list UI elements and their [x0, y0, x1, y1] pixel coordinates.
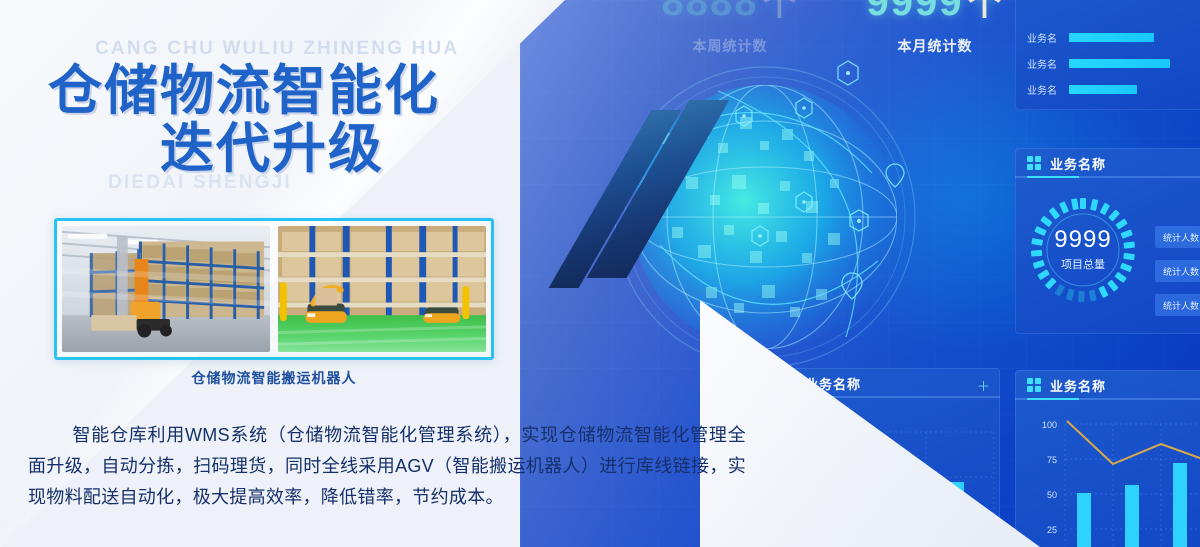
- stat-row[interactable]: 统计人数: [1155, 294, 1200, 316]
- add-icon[interactable]: ＋: [977, 376, 990, 395]
- pinyin-top: CANG CHU WULIU ZHINENG HUA: [95, 38, 459, 60]
- title-line-1: 仓储物流智能化: [48, 62, 468, 120]
- photo-caption: 仓储物流智能搬运机器人: [54, 368, 494, 388]
- svg-text:25: 25: [1047, 525, 1057, 535]
- warehouse-forklift-photo[interactable]: [62, 226, 270, 352]
- hbar-label: 业务名: [1027, 30, 1069, 45]
- panel-header: 业务名称: [1015, 148, 1200, 178]
- hbar-row[interactable]: 业务名: [1015, 82, 1200, 97]
- stat-row[interactable]: 统计人数: [1155, 260, 1200, 282]
- stat-week: 8888个 本周统计数: [640, 0, 820, 56]
- donut-center: 9999 项目总量: [1023, 190, 1143, 310]
- body-text: 智能仓库利用WMS系统（仓储物流智能化管理系统），实现仓储物流智能化管理全面升级…: [28, 425, 746, 507]
- hbar-label: 业务名: [1027, 82, 1069, 97]
- panel-business-statistics[interactable]: 业务统计 业务名 业务名 业务名: [1015, 0, 1200, 110]
- stat-month: 9999个 本月统计数: [845, 0, 1025, 56]
- donut-value: 9999: [1054, 228, 1111, 252]
- stat-month-unit: 个: [967, 0, 1003, 23]
- hbar-label: 业务名: [1027, 56, 1069, 71]
- panel-underline: [1015, 398, 1200, 400]
- stat-month-label: 本月统计数: [845, 36, 1025, 56]
- panel-project-total[interactable]: 业务名称: [1015, 148, 1200, 334]
- hbar-list: 业务名 业务名 业务名: [1015, 30, 1200, 97]
- stat-week-label: 本周统计数: [640, 36, 820, 56]
- stat-week-unit: 个: [762, 0, 798, 23]
- hbar-fill: [1069, 33, 1154, 42]
- stat-row[interactable]: 统计人数: [1155, 226, 1200, 248]
- photo-frame: [54, 218, 494, 360]
- warehouse-agv-photo[interactable]: [278, 226, 486, 352]
- donut-label: 项目总量: [1061, 256, 1105, 272]
- svg-text:100: 100: [1042, 420, 1057, 430]
- panel-combo-chart[interactable]: 业务名称 100 75 5: [1015, 370, 1200, 547]
- hbar-fill: [1069, 85, 1137, 94]
- stat-row-label: 统计人数: [1163, 265, 1199, 278]
- pinyin-bottom: DIEDAI SHENGJI: [108, 172, 292, 194]
- hbar-row[interactable]: 业务名: [1015, 56, 1200, 71]
- combo-chart: 100 75 50 25: [1015, 404, 1200, 547]
- svg-text:75: 75: [1047, 455, 1057, 465]
- panel-title: 业务名称: [1050, 154, 1106, 173]
- title-line-2: 迭代升级: [48, 120, 468, 178]
- svg-text:50: 50: [1047, 490, 1057, 500]
- stat-month-value: 9999: [867, 0, 964, 24]
- grid-icon: [1027, 378, 1041, 392]
- donut-gauge: 9999 项目总量: [1023, 190, 1143, 310]
- panel-header: 业务名称: [1015, 370, 1200, 400]
- panel-title: 业务名称: [1050, 376, 1106, 395]
- stat-row-label: 统计人数: [1163, 299, 1199, 312]
- body-paragraph: 智能仓库利用WMS系统（仓储物流智能化管理系统），实现仓储物流智能化管理全面升级…: [28, 420, 746, 513]
- stat-row-label: 统计人数: [1163, 231, 1199, 244]
- stat-week-value: 8888: [662, 0, 759, 24]
- panel-underline: [1015, 176, 1200, 178]
- grid-icon: [1027, 156, 1041, 170]
- page-title: 仓储物流智能化 迭代升级: [48, 62, 468, 179]
- poster-canvas: 8888个 本周统计数 9999个 本月统计数 业务统计 业务名 业务名 业务名: [0, 0, 1200, 547]
- hbar-fill: [1069, 59, 1170, 68]
- hbar-row[interactable]: 业务名: [1015, 30, 1200, 45]
